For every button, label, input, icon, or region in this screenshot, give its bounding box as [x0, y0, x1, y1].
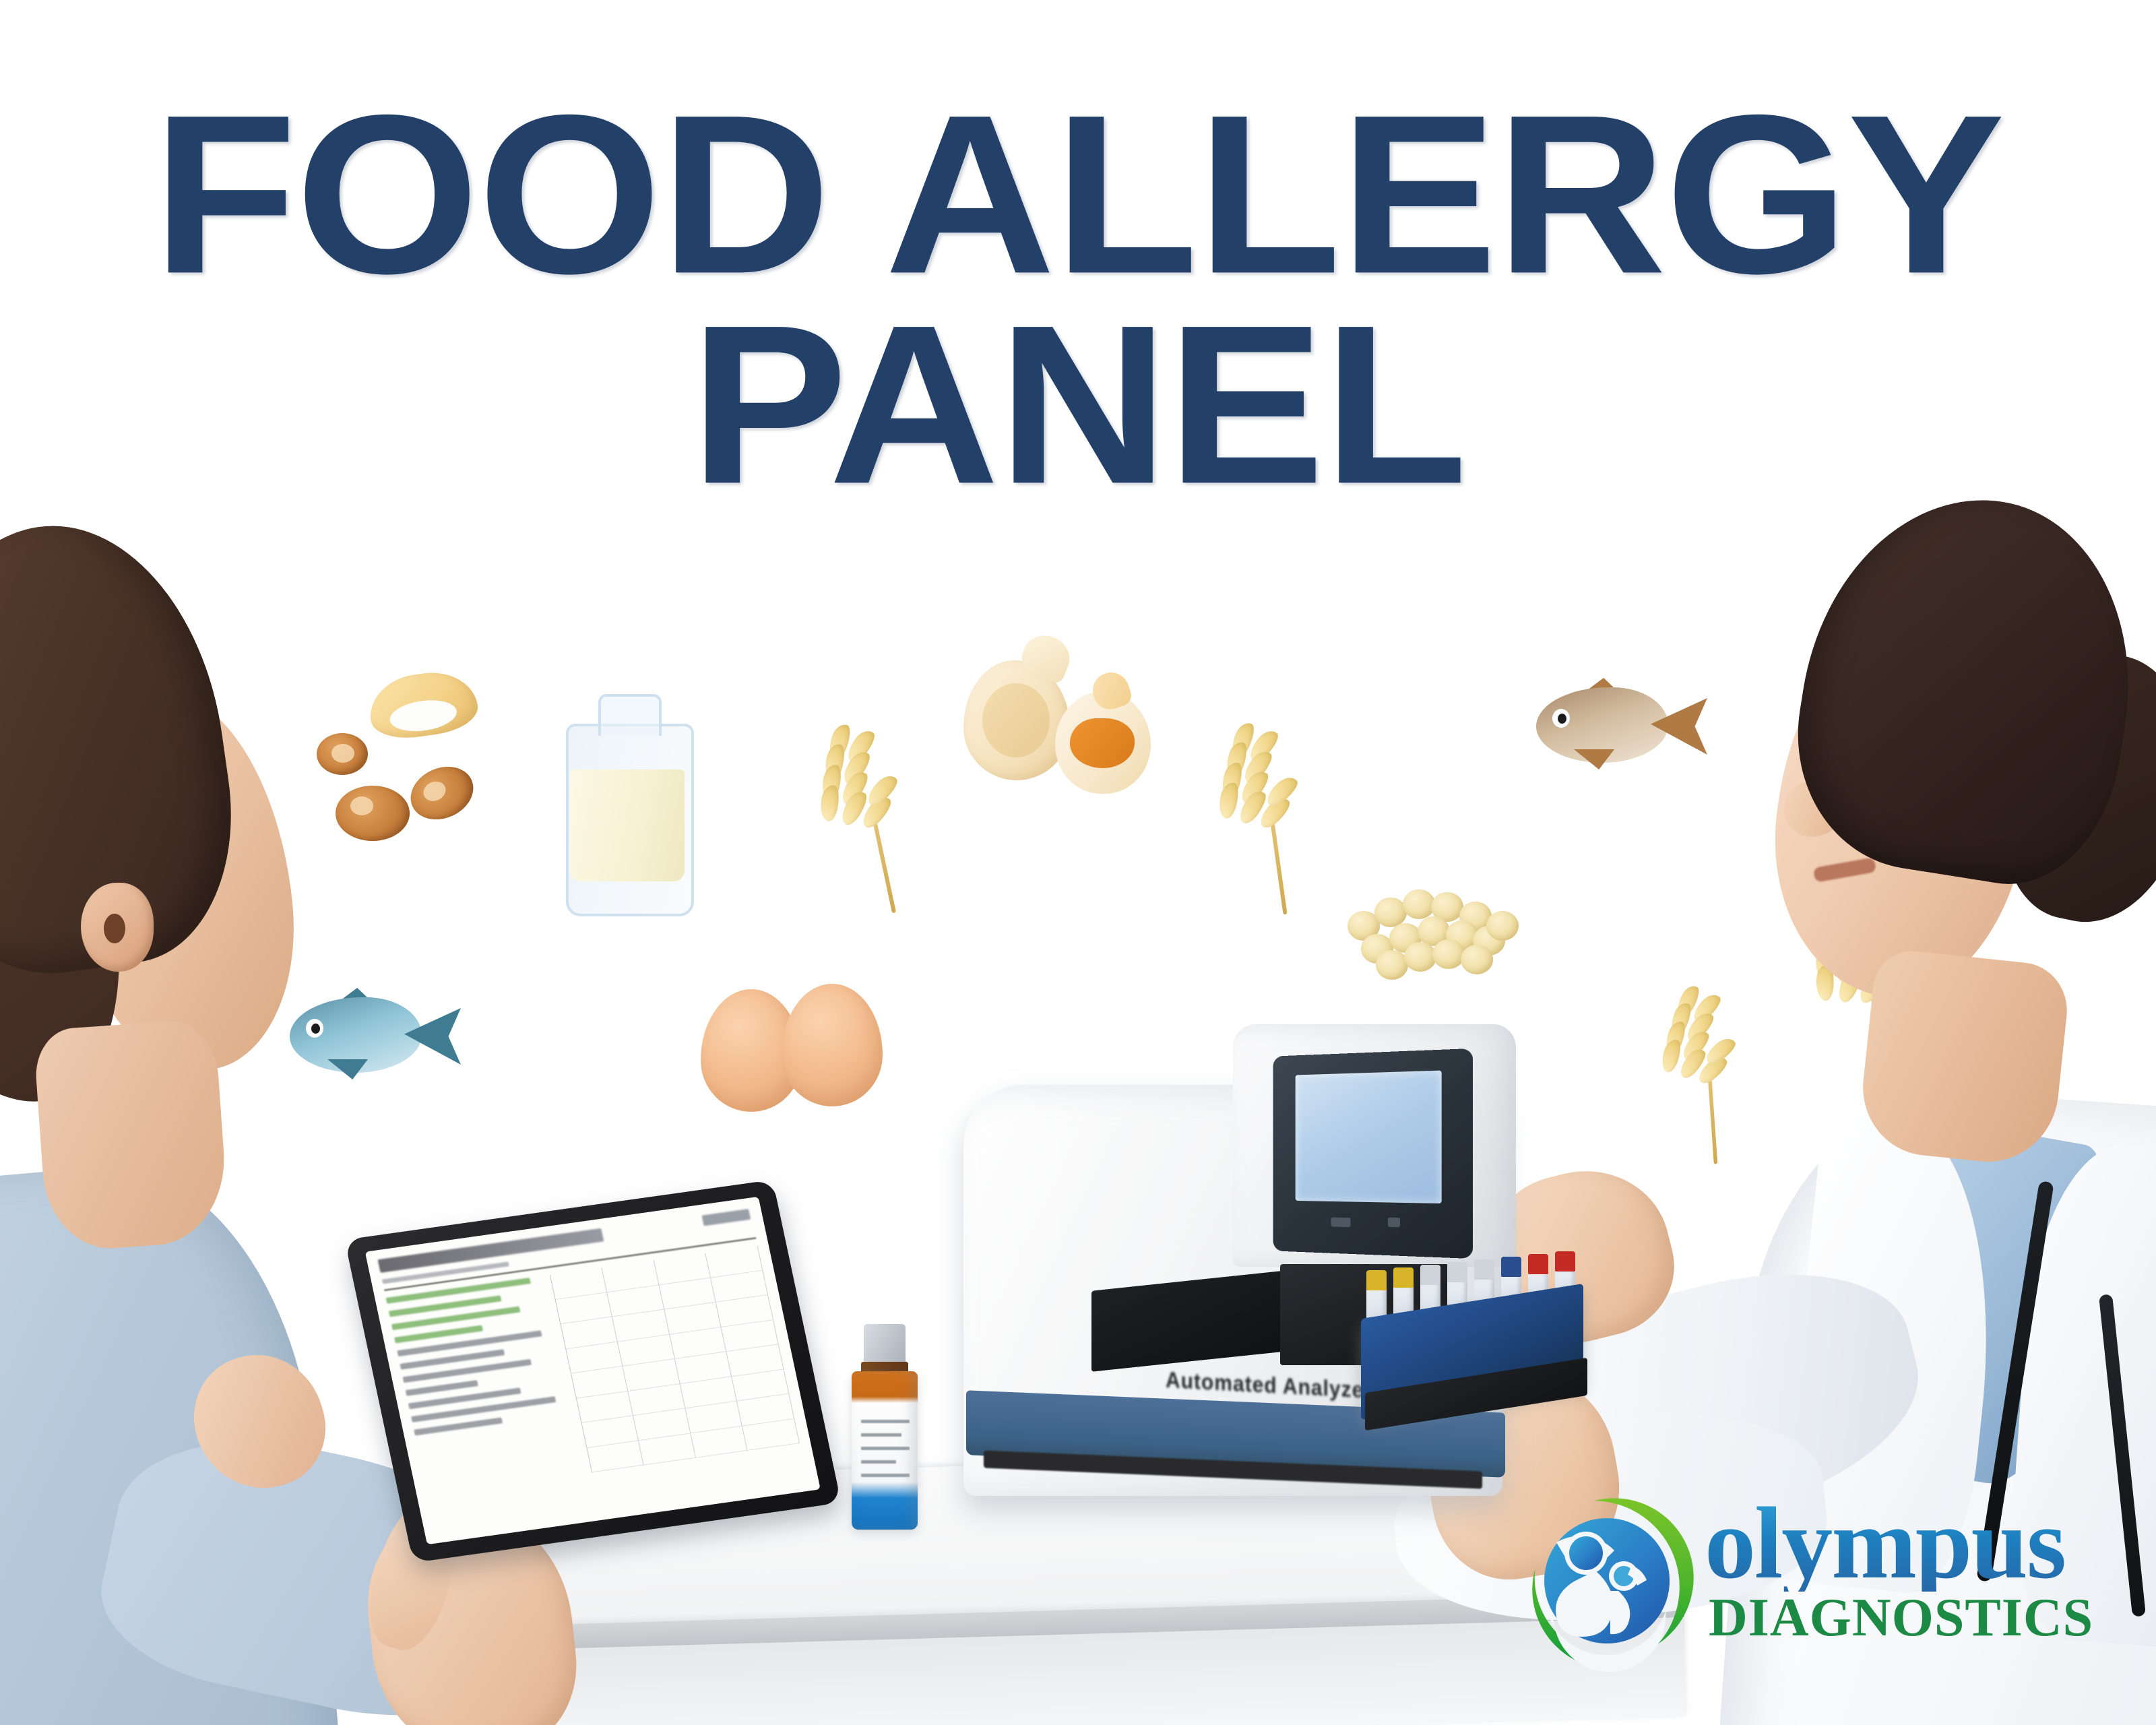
title-line-1: FOOD ALLERGY — [0, 94, 2156, 294]
test-tube-rack — [1361, 1243, 1604, 1439]
report-results-grid — [549, 1246, 799, 1473]
doctor-neck — [1856, 947, 2072, 1169]
report-row — [406, 1380, 478, 1396]
tablet-screen[interactable] — [365, 1197, 821, 1544]
analyzer-button-power[interactable] — [1388, 1218, 1400, 1228]
shellfish-icon — [963, 640, 1145, 795]
wheat-stalk-icon-1 — [782, 714, 956, 931]
wheat-stem — [1270, 821, 1287, 914]
vial-body — [852, 1371, 918, 1530]
peanut-shape — [402, 757, 482, 829]
olympus-logo-mark-icon — [1516, 1490, 1698, 1672]
report-logo-placeholder — [701, 1209, 751, 1226]
title-line-2: PANEL — [0, 305, 2156, 504]
patient-neck — [33, 1018, 230, 1253]
patient-figure — [0, 526, 337, 1725]
analyzer-lcd-screen[interactable] — [1296, 1071, 1442, 1203]
report-row-highlight — [386, 1278, 531, 1304]
wheat-stalk-icon-2 — [1185, 716, 1348, 928]
wheat-stem — [873, 820, 896, 913]
eggs-icon — [701, 984, 903, 1112]
soy-beans-icon — [1341, 869, 1529, 970]
page-title: FOOD ALLERGY PANEL — [0, 94, 2156, 482]
brand-logo[interactable]: olympus DIAGNOSTICS — [1516, 1486, 2143, 1688]
analyzer-screen-bezel — [1273, 1048, 1473, 1259]
egg-shape — [782, 984, 883, 1106]
tablet-device[interactable] — [344, 1180, 841, 1563]
analyzer-button-menu[interactable] — [1331, 1218, 1351, 1228]
fish-eye — [1552, 709, 1570, 728]
tree-nuts-and-peanuts-icon — [317, 674, 492, 829]
milk-bottle-neck — [598, 694, 662, 736]
poster-canvas: FOOD ALLERGY PANEL — [0, 0, 2156, 1725]
patient-ear — [81, 883, 154, 972]
milk-bottle-icon — [566, 694, 694, 916]
brand-tagline: DIAGNOSTICS — [1709, 1588, 2093, 1649]
cashew-shape — [365, 666, 480, 743]
milk-liquid — [570, 770, 685, 881]
reagent-vial — [848, 1324, 922, 1530]
report-table — [386, 1246, 800, 1496]
brand-name: olympus — [1705, 1495, 2093, 1592]
peanut-shape — [336, 786, 410, 841]
brand-logo-text: olympus DIAGNOSTICS — [1705, 1495, 2093, 1649]
vial-cap — [864, 1324, 906, 1366]
